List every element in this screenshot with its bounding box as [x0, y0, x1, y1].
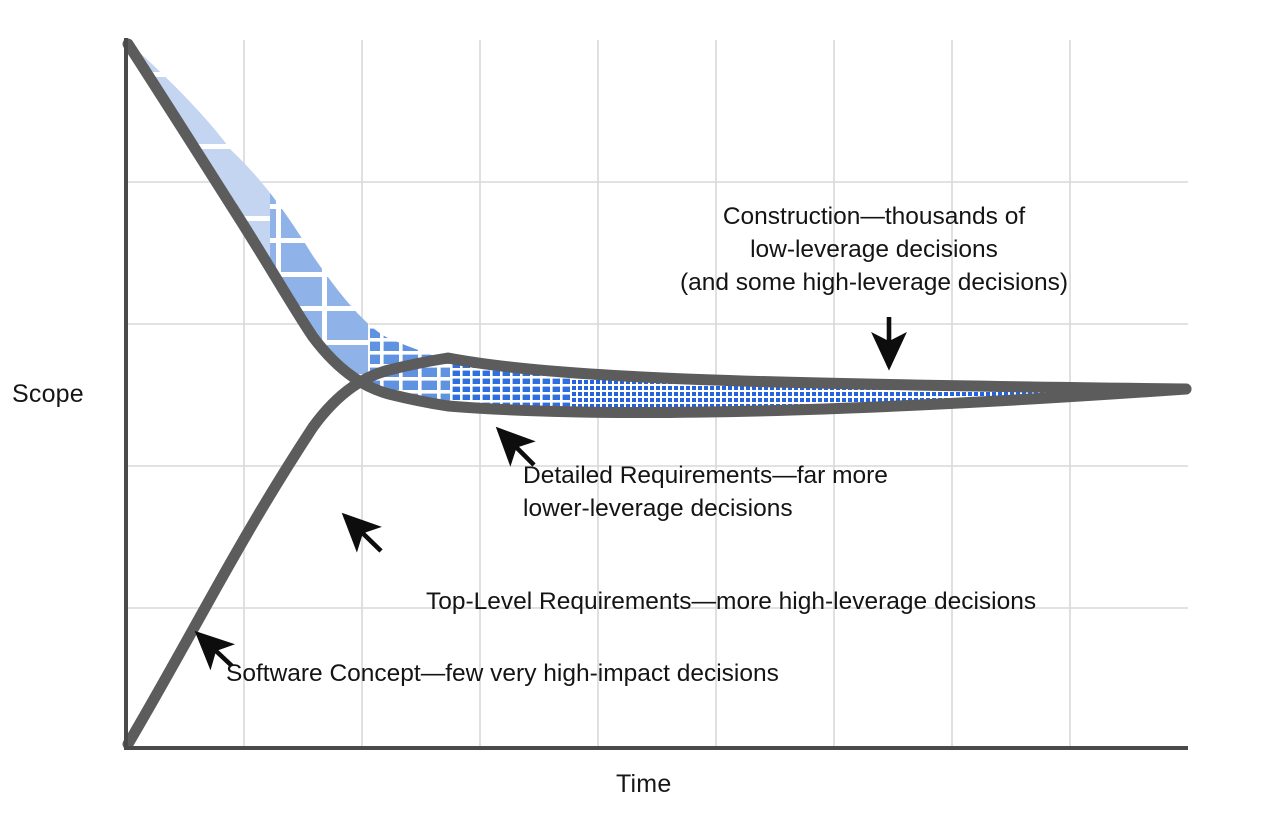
annotation-software-concept-line1: Software Concept—few very high-impact de…	[226, 657, 779, 690]
annotation-top-level-requirements: Top-Level Requirements—more high-leverag…	[426, 585, 1036, 618]
x-axis-label: Time	[616, 770, 671, 799]
annotation-software-concept: Software Concept—few very high-impact de…	[226, 657, 779, 690]
y-axis-label: Scope	[12, 380, 84, 409]
annotation-construction: Construction—thousands of low-leverage d…	[664, 200, 1084, 299]
annotation-construction-line3: (and some high-leverage decisions)	[664, 266, 1084, 299]
annotation-detailed-requirements: Detailed Requirements—far more lower-lev…	[523, 459, 888, 525]
funnel-chart-svg	[0, 0, 1283, 815]
annotation-top-level-requirements-line1: Top-Level Requirements—more high-leverag…	[426, 585, 1036, 618]
annotation-detailed-requirements-line1: Detailed Requirements—far more	[523, 459, 888, 492]
funnel-diagram: Scope Time Construction—thousands of low…	[0, 0, 1283, 815]
annotation-detailed-requirements-line2: lower-leverage decisions	[523, 492, 888, 525]
annotation-construction-line2: low-leverage decisions	[664, 233, 1084, 266]
annotation-construction-line1: Construction—thousands of	[664, 200, 1084, 233]
